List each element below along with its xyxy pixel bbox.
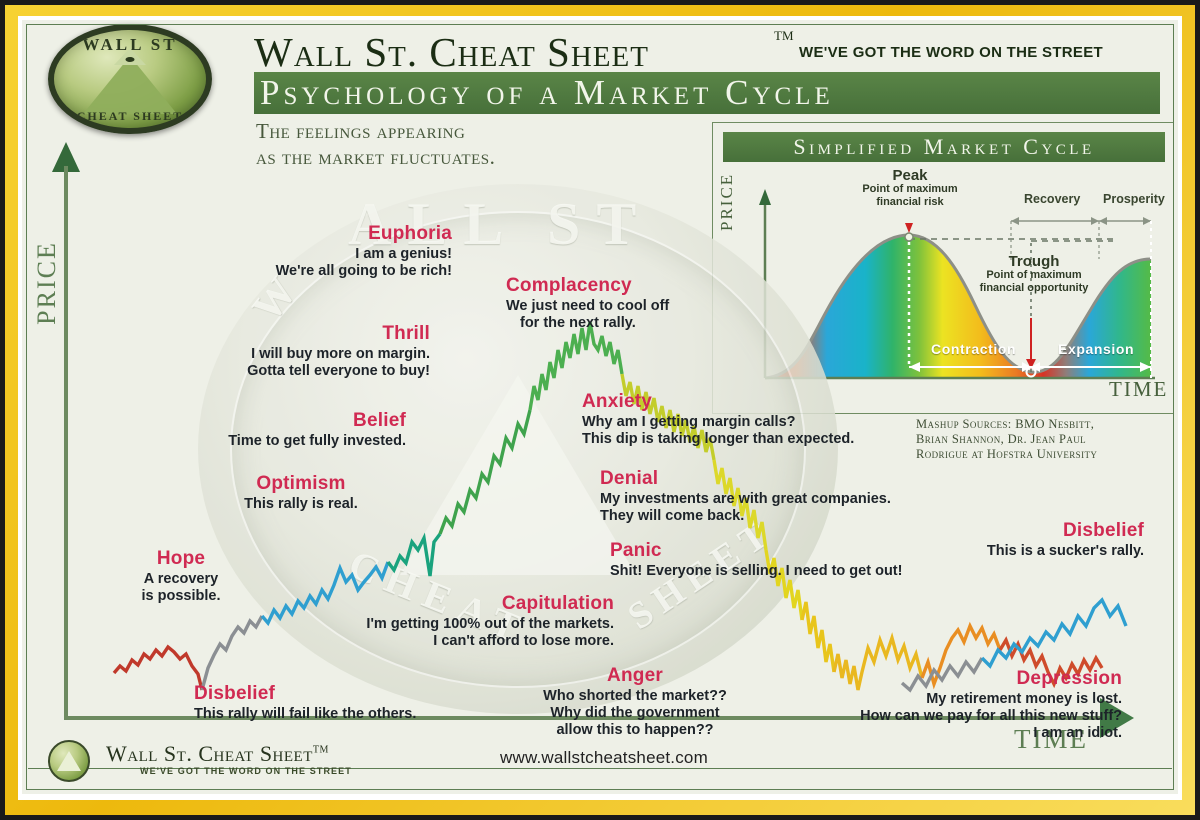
poster-root: WALL ST CHEAT SHEET Wall St. Cheat Sheet…: [0, 0, 1200, 820]
annotation-capitulation-line-1: I'm getting 100% out of the markets.: [342, 616, 614, 633]
annotation-anxiety-line-1: Why am I getting margin calls?: [582, 414, 912, 431]
annotation-anxiety-line-2: This dip is taking longer than expected.: [582, 431, 912, 448]
annotation-hope-line-2: is possible.: [122, 588, 240, 605]
annotation-capitulation-line-2: I can't afford to lose more.: [342, 633, 614, 650]
brand-title: Wall St. Cheat Sheet: [254, 28, 649, 76]
annotation-anxiety: Anxiety Why am I getting margin calls? T…: [582, 391, 912, 448]
poster-footer: Wall St. Cheat SheetTM WE'VE GOT THE WOR…: [22, 734, 1178, 794]
annotation-depression-title: Depression: [832, 668, 1122, 690]
annotation-euphoria: Euphoria I am a genius! We're all going …: [204, 223, 452, 280]
annotation-anger: Anger Who shorted the market?? Why did t…: [510, 665, 760, 739]
annotation-thrill-line-2: Gotta tell everyone to buy!: [180, 363, 430, 380]
annotation-complacency-line-2: for the next rally.: [506, 315, 726, 332]
annotation-belief: Belief Time to get fully invested.: [190, 410, 406, 450]
annotation-thrill-title: Thrill: [180, 323, 430, 345]
annotation-denial-title: Denial: [600, 468, 930, 490]
eye-pupil-icon: [126, 57, 135, 62]
annotation-belief-title: Belief: [190, 410, 406, 432]
annotation-complacency: Complacency We just need to cool off for…: [506, 275, 726, 332]
annotation-disbelief-1: Disbelief This rally will fail like the …: [194, 683, 416, 723]
annotation-denial: Denial My investments are with great com…: [600, 468, 930, 525]
annotation-capitulation-title: Capitulation: [342, 593, 614, 615]
annotation-depression: Depression My retirement money is lost. …: [832, 668, 1122, 742]
annotation-disbelief-2-title: Disbelief: [902, 520, 1144, 542]
price-axis-line: [64, 166, 68, 718]
annotation-panic: Panic Shit! Everyone is selling. I need …: [610, 540, 940, 580]
brand-tagline: WE'VE GOT THE WORD ON THE STREET: [799, 44, 1103, 61]
title-block: Wall St. Cheat Sheet TM WE'VE GOT THE WO…: [254, 22, 1160, 72]
annotation-complacency-title: Complacency: [506, 275, 726, 297]
annotation-thrill-line-1: I will buy more on margin.: [180, 346, 430, 363]
annotation-anger-title: Anger: [510, 665, 760, 687]
annotation-complacency-line-1: We just need to cool off: [506, 298, 726, 315]
segment-disbelief-2: [982, 600, 1126, 666]
annotation-capitulation: Capitulation I'm getting 100% out of the…: [342, 593, 614, 650]
annotation-disbelief-1-line-1: This rally will fail like the others.: [194, 706, 416, 723]
annotation-euphoria-line-1: I am a genius!: [204, 246, 452, 263]
annotation-panic-line-1: Shit! Everyone is selling. I need to get…: [610, 563, 940, 580]
annotation-optimism: Optimism This rally is real.: [208, 473, 394, 513]
annotation-thrill: Thrill I will buy more on margin. Gotta …: [180, 323, 430, 380]
brand-line: Wall St. Cheat Sheet TM WE'VE GOT THE WO…: [254, 22, 1160, 72]
annotation-depression-line-2: How can we pay for all this new stuff?: [832, 708, 1122, 725]
annotation-anger-line-1: Who shorted the market??: [510, 688, 760, 705]
annotation-denial-line-2: They will come back.: [600, 508, 930, 525]
poster-canvas: WALL ST CHEAT SHEET Wall St. Cheat Sheet…: [22, 20, 1178, 794]
annotation-anger-line-2: Why did the government: [510, 705, 760, 722]
footer-pyramid-icon: [57, 751, 81, 771]
annotation-disbelief-1-title: Disbelief: [194, 683, 416, 705]
logo-ring-bottom-label: CHEAT SHEET: [54, 109, 206, 124]
annotation-hope: Hope A recovery is possible.: [122, 548, 240, 605]
footer-tagline: WE'VE GOT THE WORD ON THE STREET: [140, 766, 352, 776]
wall-st-cheat-sheet-logo-icon: WALL ST CHEAT SHEET: [48, 24, 212, 134]
footer-trademark: TM: [313, 745, 329, 756]
footer-brand: Wall St. Cheat SheetTM: [106, 741, 329, 767]
price-axis-label: PRICE: [32, 228, 62, 338]
annotation-disbelief-2-line-1: This is a sucker's rally.: [902, 543, 1144, 560]
footer-brand-text: Wall St. Cheat Sheet: [106, 741, 313, 766]
annotation-optimism-title: Optimism: [208, 473, 394, 495]
annotation-hope-title: Hope: [122, 548, 240, 570]
annotation-belief-line-1: Time to get fully invested.: [190, 433, 406, 450]
annotation-hope-line-1: A recovery: [122, 571, 240, 588]
market-cycle-chart: ALL ST W CHEAT SHEET: [22, 138, 1178, 768]
annotation-optimism-line-1: This rally is real.: [208, 496, 394, 513]
annotation-euphoria-title: Euphoria: [204, 223, 452, 245]
annotation-euphoria-line-2: We're all going to be rich!: [204, 263, 452, 280]
footer-url[interactable]: www.wallstcheatsheet.com: [500, 748, 708, 768]
page-title: Psychology of a Market Cycle: [254, 72, 1160, 114]
annotation-denial-line-1: My investments are with great companies.: [600, 491, 930, 508]
main-title-bar: Psychology of a Market Cycle: [254, 72, 1160, 114]
annotation-depression-line-1: My retirement money is lost.: [832, 691, 1122, 708]
poster-header: WALL ST CHEAT SHEET Wall St. Cheat Sheet…: [22, 20, 1178, 138]
annotation-panic-title: Panic: [610, 540, 940, 562]
annotation-disbelief-2: Disbelief This is a sucker's rally.: [902, 520, 1144, 560]
footer-logo-icon: [48, 740, 90, 782]
trademark-symbol: TM: [774, 28, 794, 44]
annotation-anxiety-title: Anxiety: [582, 391, 912, 413]
